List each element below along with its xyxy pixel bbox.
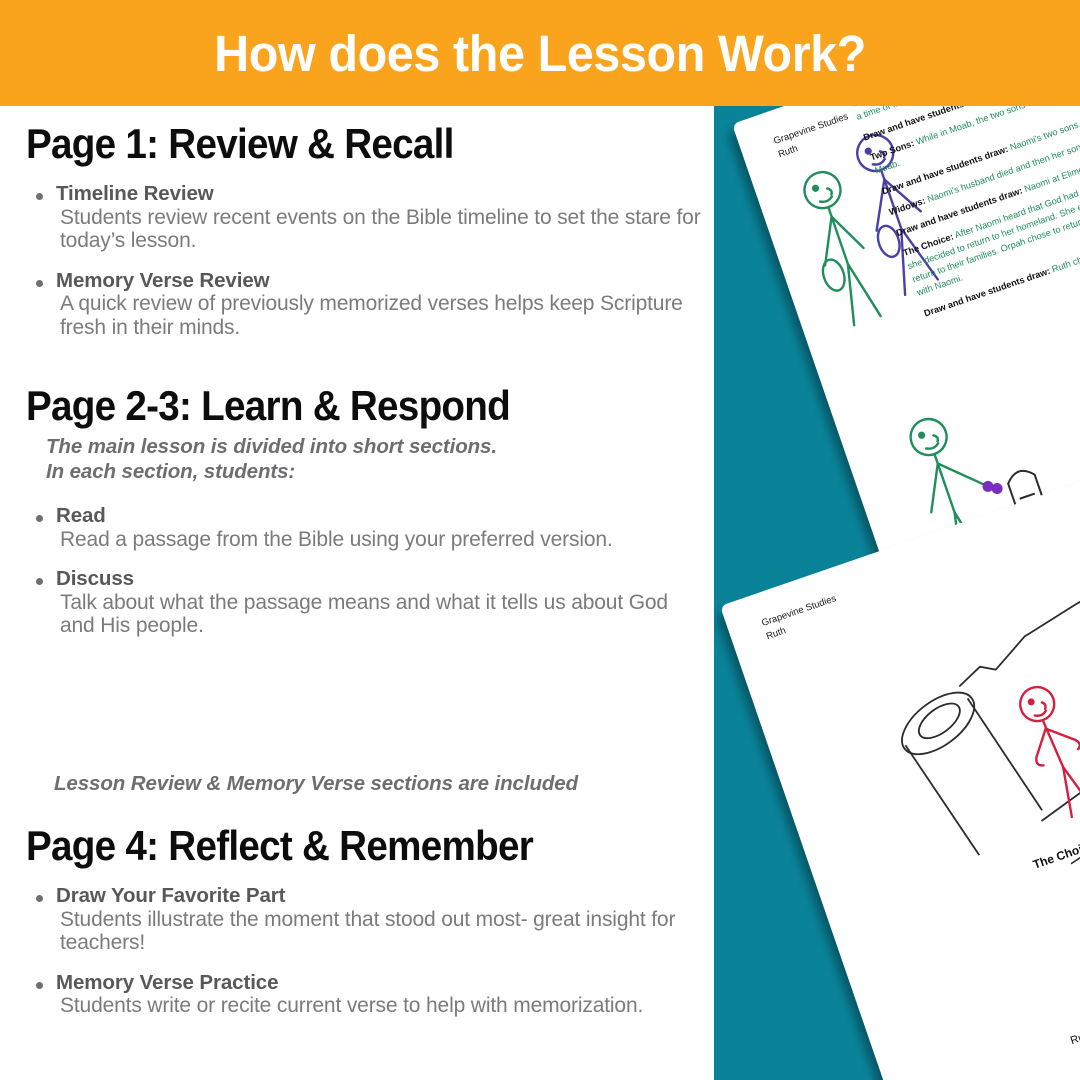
bullet-list-page-1: Timeline Review Students review recent e… xyxy=(26,182,706,339)
bullet-description: Read a passage from the Bible using your… xyxy=(60,528,706,552)
section-page-1: Page 1: Review & Recall Timeline Review … xyxy=(26,122,706,339)
header-bar: How does the Lesson Work? xyxy=(0,0,1080,106)
list-item: Memory Verse Review A quick review of pr… xyxy=(26,269,706,340)
worksheet-line-label: Widows: xyxy=(888,195,927,217)
bullet-title: Read xyxy=(56,504,706,528)
verse-reference: Ruth 2:3 xyxy=(1069,1022,1080,1047)
lesson-structure-content: Page 1: Review & Recall Timeline Review … xyxy=(0,106,714,1080)
included-sections-note: Lesson Review & Memory Verse sections ar… xyxy=(54,772,706,796)
section-heading-page-2-3: Page 2-3: Learn & Respond xyxy=(26,384,652,428)
bullet-list-page-2-3: Read Read a passage from the Bible using… xyxy=(26,504,706,638)
bullet-description: Students illustrate the moment that stoo… xyxy=(60,908,706,955)
bullet-title: Memory Verse Review xyxy=(56,269,706,293)
scroll-scene-illustration xyxy=(841,489,1080,938)
list-item: Memory Verse Practice Students write or … xyxy=(26,971,706,1018)
bullet-description: Students review recent events on the Bib… xyxy=(60,206,706,253)
bullet-title: Timeline Review xyxy=(56,182,706,206)
section-heading-page-1: Page 1: Review & Recall xyxy=(26,122,652,166)
section-intro: The main lesson is divided into short se… xyxy=(46,434,706,484)
list-item: Draw Your Favorite Part Students illustr… xyxy=(26,884,706,955)
bullet-title: Memory Verse Practice xyxy=(56,971,706,995)
section-intro-line-2: In each section, students: xyxy=(46,459,706,484)
section-note: Lesson Review & Memory Verse sections ar… xyxy=(26,772,706,796)
list-item: Read Read a passage from the Bible using… xyxy=(26,504,706,551)
slide-canvas: How does the Lesson Work? Grapevine Stud… xyxy=(0,0,1080,1080)
section-heading-page-4: Page 4: Reflect & Remember xyxy=(26,824,652,868)
section-page-2-3: Page 2-3: Learn & Respond The main lesso… xyxy=(26,384,706,638)
bullet-description: Talk about what the passage means and wh… xyxy=(60,591,706,638)
worksheet-preview-panel: Grapevine Studies Ruth xyxy=(714,106,1080,1080)
list-item: Timeline Review Students review recent e… xyxy=(26,182,706,253)
section-page-4: Page 4: Reflect & Remember Draw Your Fav… xyxy=(26,824,706,1018)
bullet-title: Discuss xyxy=(56,567,706,591)
list-item: Discuss Talk about what the passage mean… xyxy=(26,567,706,638)
bullet-description: A quick review of previously memorized v… xyxy=(60,292,706,339)
section-intro-line-1: The main lesson is divided into short se… xyxy=(46,434,706,459)
bullet-title: Draw Your Favorite Part xyxy=(56,884,706,908)
bullet-list-page-4: Draw Your Favorite Part Students illustr… xyxy=(26,884,706,1018)
page-title: How does the Lesson Work? xyxy=(214,28,866,79)
bullet-description: Students write or recite current verse t… xyxy=(60,994,706,1018)
worksheet-brand: Grapevine Studies Ruth xyxy=(760,592,843,643)
